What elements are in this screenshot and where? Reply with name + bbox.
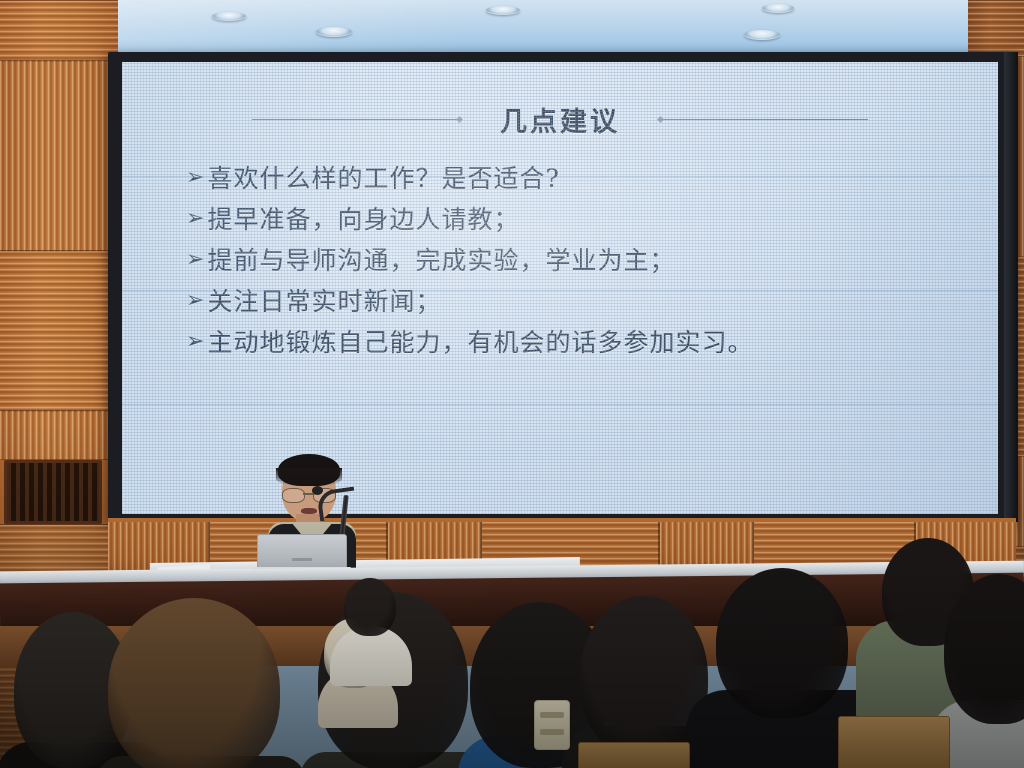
slide-bullet-text: 关注日常实时新闻； (207, 289, 441, 314)
laptop-lid (257, 534, 347, 570)
ceiling-downlight (486, 6, 520, 15)
slide-title: 几点建议 (466, 100, 654, 139)
ceiling-downlight (316, 27, 352, 37)
bullet-arrow-icon: ➢ (186, 166, 205, 189)
slide-bullet-text: 提早准备，向身边人请教； (207, 207, 519, 232)
bullet-arrow-icon: ➢ (186, 248, 205, 271)
slide-bullet-list: ➢喜欢什么样的工作？是否适合?➢提早准备，向身边人请教；➢提前与导师沟通，完成实… (186, 166, 958, 371)
ceiling-downlight (762, 4, 794, 13)
slide-bullet: ➢关注日常实时新闻； (186, 289, 958, 314)
slide-bullet-text: 主动地锻炼自己能力，有机会的话多参加实习。 (207, 330, 753, 355)
slide-bullet: ➢提早准备，向身边人请教； (186, 207, 958, 232)
lecture-hall-scene: 几点建议 ➢喜欢什么样的工作？是否适合?➢提早准备，向身边人请教；➢提前与导师沟… (0, 0, 1024, 768)
hair-claw-clip (534, 700, 570, 750)
seat-back-center (578, 742, 690, 768)
wall-vent-grille (4, 460, 102, 524)
title-rule-left (252, 119, 462, 120)
head-mid-back-girl (344, 578, 396, 636)
ceiling-downlight (744, 30, 780, 40)
head-blonde-left (108, 598, 280, 768)
head-black-hoodie (716, 568, 848, 718)
seat-back-right (838, 716, 950, 768)
slide-bullet-text: 提前与导师沟通，完成实验，学业为主； (207, 248, 675, 273)
presentation-screen: 几点建议 ➢喜欢什么样的工作？是否适合?➢提早准备，向身边人请教；➢提前与导师沟… (122, 62, 998, 514)
microphone-head (312, 486, 323, 495)
slide-bullet-text: 喜欢什么样的工作？是否适合? (207, 166, 559, 191)
slide-bullet: ➢喜欢什么样的工作？是否适合? (186, 166, 958, 191)
slide-bullet: ➢提前与导师沟通，完成实验，学业为主； (186, 248, 958, 273)
bullet-arrow-icon: ➢ (186, 207, 205, 230)
title-rule-right (658, 119, 868, 120)
slide: 几点建议 ➢喜欢什么样的工作？是否适合?➢提早准备，向身边人请教；➢提前与导师沟… (122, 62, 998, 514)
ceiling-downlight (212, 12, 246, 21)
bullet-arrow-icon: ➢ (186, 289, 205, 312)
slide-title-row: 几点建议 (122, 100, 998, 139)
slide-bullet: ➢主动地锻炼自己能力，有机会的话多参加实习。 (186, 330, 958, 355)
laptop-logo (292, 558, 312, 561)
presenter-hair (278, 454, 340, 486)
bullet-arrow-icon: ➢ (186, 330, 205, 353)
